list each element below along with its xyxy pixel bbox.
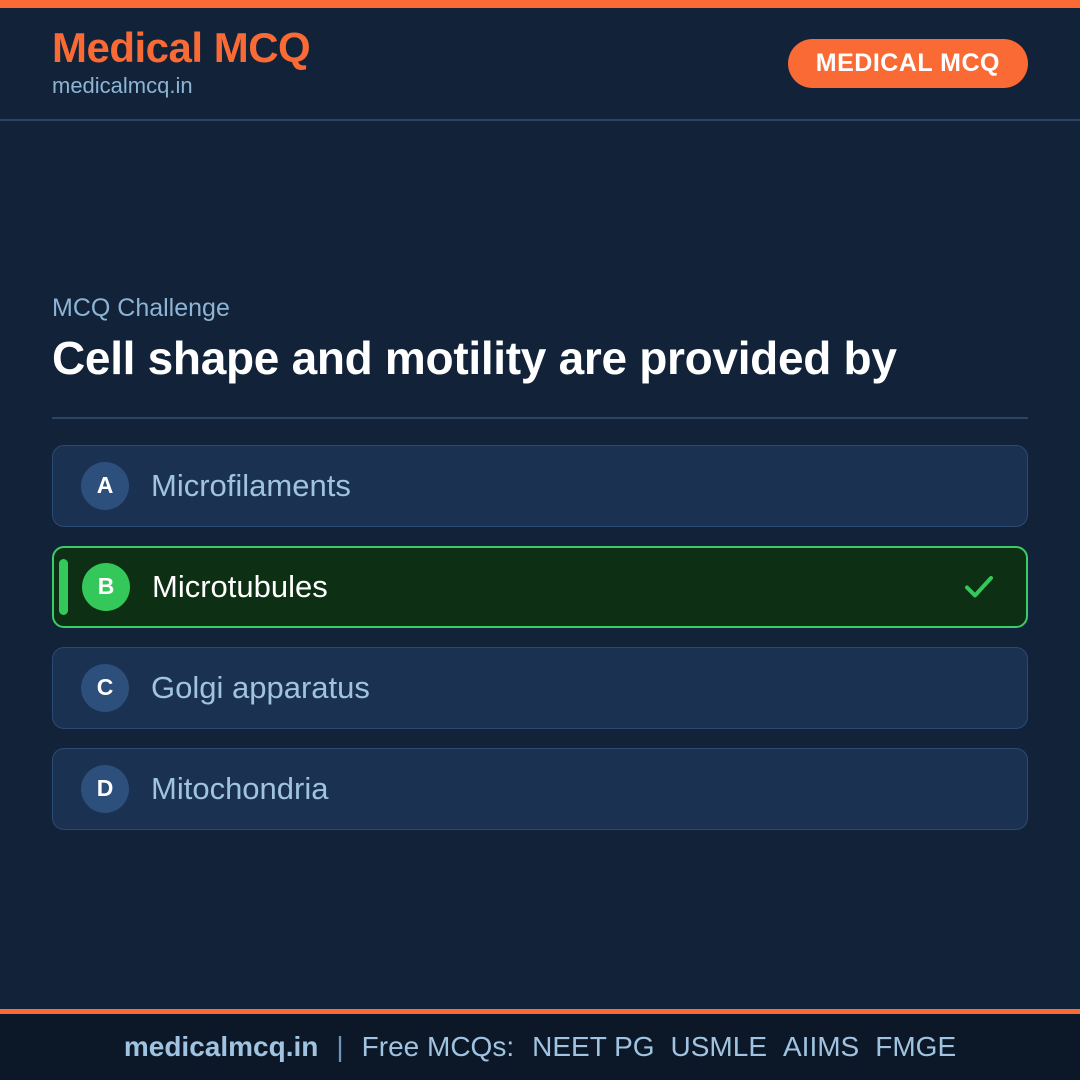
option-d[interactable]: D Mitochondria (52, 748, 1028, 830)
question-divider (52, 417, 1028, 419)
option-b[interactable]: B Microtubules (52, 546, 1028, 628)
options-list: A Microfilaments B Microtubules C Golgi … (52, 445, 1028, 830)
eyebrow-label: MCQ Challenge (52, 293, 1028, 323)
option-label: Golgi apparatus (151, 671, 997, 705)
page-header: Medical MCQ medicalmcq.in MEDICAL MCQ (0, 8, 1080, 121)
main-content: MCQ Challenge Cell shape and motility ar… (0, 121, 1080, 1009)
option-c[interactable]: C Golgi apparatus (52, 647, 1028, 729)
option-label: Mitochondria (151, 772, 997, 806)
footer-exam-list: NEET PG USMLE AIIMS FMGE (532, 1033, 956, 1061)
page-footer: medicalmcq.in | Free MCQs: NEET PG USMLE… (0, 1014, 1080, 1080)
footer-exam-item[interactable]: AIIMS (783, 1033, 859, 1061)
checkmark-icon (962, 570, 996, 604)
correct-accent-bar (59, 559, 68, 615)
option-letter-badge: D (81, 765, 129, 813)
brand-title: Medical MCQ (52, 26, 310, 70)
question-block: MCQ Challenge Cell shape and motility ar… (52, 293, 1028, 385)
option-letter-badge: B (82, 563, 130, 611)
header-badge: MEDICAL MCQ (788, 39, 1028, 88)
footer-exam-item[interactable]: NEET PG (532, 1033, 654, 1061)
footer-label: Free MCQs: (362, 1033, 514, 1061)
top-accent-rule (0, 0, 1080, 8)
footer-separator: | (336, 1033, 343, 1061)
footer-site-link[interactable]: medicalmcq.in (124, 1033, 319, 1061)
footer-content: medicalmcq.in | Free MCQs: NEET PG USMLE… (124, 1033, 956, 1061)
option-a[interactable]: A Microfilaments (52, 445, 1028, 527)
brand-subtitle: medicalmcq.in (52, 72, 310, 101)
footer-exam-item[interactable]: FMGE (875, 1033, 956, 1061)
option-label: Microfilaments (151, 469, 997, 503)
option-letter-badge: C (81, 664, 129, 712)
brand: Medical MCQ medicalmcq.in (52, 26, 310, 101)
mcq-card: Medical MCQ medicalmcq.in MEDICAL MCQ MC… (0, 0, 1080, 1080)
footer-exam-item[interactable]: USMLE (671, 1033, 767, 1061)
option-letter-badge: A (81, 462, 129, 510)
page-title: Cell shape and motility are provided by (52, 333, 912, 385)
option-label: Microtubules (152, 570, 962, 604)
